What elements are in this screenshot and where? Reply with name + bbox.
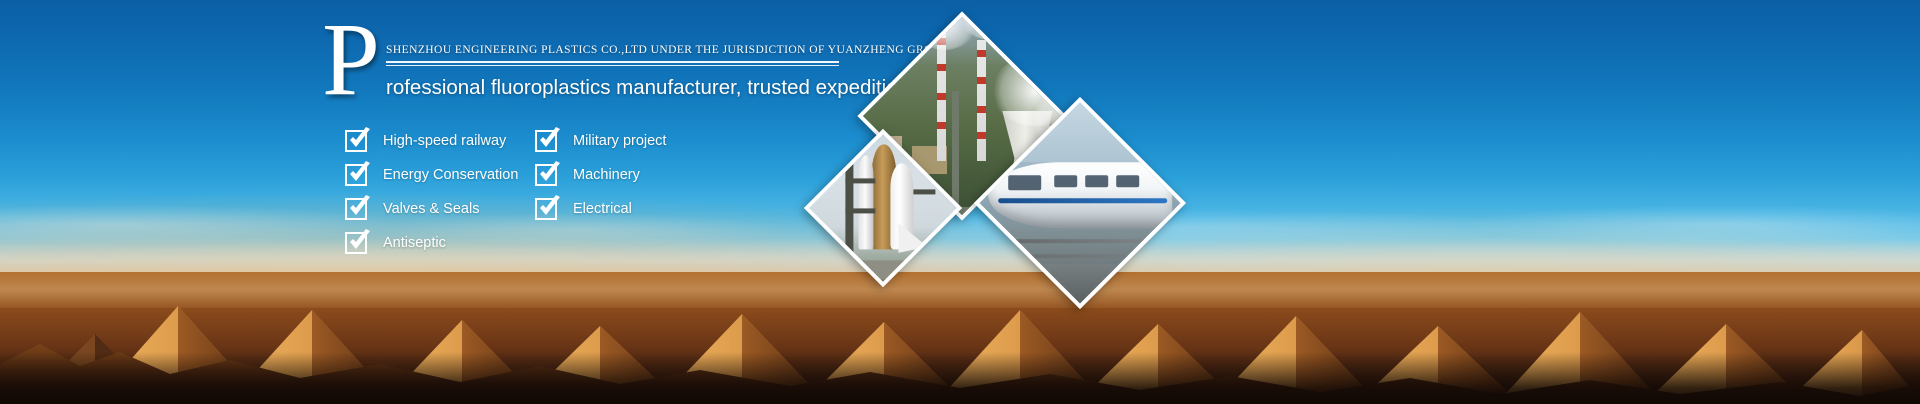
diamond-photo-gallery bbox=[0, 0, 1920, 404]
promotional-banner: P SHENZHOU ENGINEERING PLASTICS CO.,LTD … bbox=[0, 0, 1920, 404]
